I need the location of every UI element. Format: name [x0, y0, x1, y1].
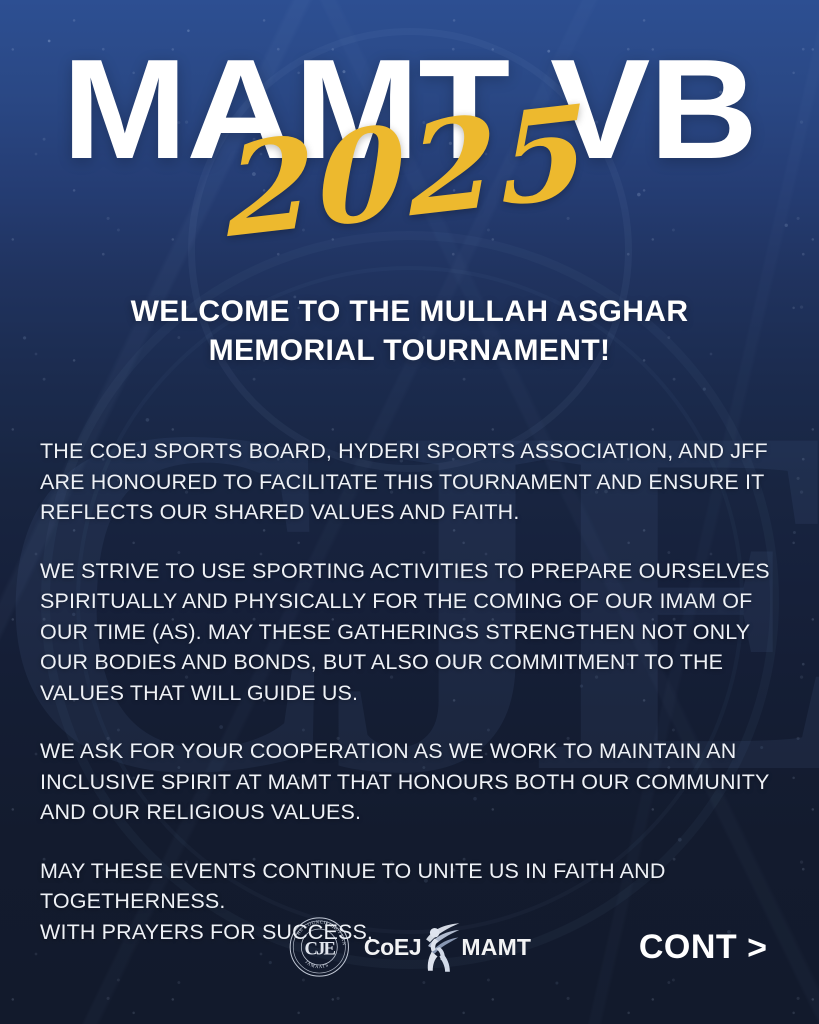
athlete-figure-icon: [422, 920, 460, 974]
coej-seal-icon: THE COUNCIL OF EUROPEAN JAMAATS CJE: [288, 916, 350, 978]
body-copy: THE COEJ SPORTS BOARD, HYDERI SPORTS ASS…: [40, 436, 776, 947]
logo-cluster: THE COUNCIL OF EUROPEAN JAMAATS CJE CoEJ: [288, 916, 531, 978]
title-block: MAMT VB 2025: [0, 0, 819, 272]
footer: THE COUNCIL OF EUROPEAN JAMAATS CJE CoEJ: [0, 916, 819, 990]
continue-label: CONT: [639, 928, 737, 967]
mamt-wordmark: MAMT: [461, 934, 531, 961]
svg-text:CJE: CJE: [304, 938, 335, 959]
paragraph-3: WE ASK FOR YOUR COOPERATION AS WE WORK T…: [40, 736, 776, 828]
mamt-logo: CoEJ MAMT: [364, 920, 531, 974]
coej-wordmark: CoEJ: [364, 934, 422, 961]
paragraph-2: WE STRIVE TO USE SPORTING ACTIVITIES TO …: [40, 556, 776, 709]
subtitle: WELCOME TO THE MULLAH ASGHAR MEMORIAL TO…: [50, 292, 770, 370]
page-title: MAMT VB: [0, 44, 819, 176]
chevron-right-icon: >: [747, 931, 767, 965]
svg-text:JAMAATS: JAMAATS: [304, 959, 329, 969]
poster-canvas: CJE MAMT VB 2025 WELCOME TO THE MULLAH A…: [0, 0, 819, 1024]
poster-content: MAMT VB 2025 WELCOME TO THE MULLAH ASGHA…: [0, 0, 819, 1024]
paragraph-1: THE COEJ SPORTS BOARD, HYDERI SPORTS ASS…: [40, 436, 776, 528]
continue-button[interactable]: CONT >: [639, 928, 767, 967]
